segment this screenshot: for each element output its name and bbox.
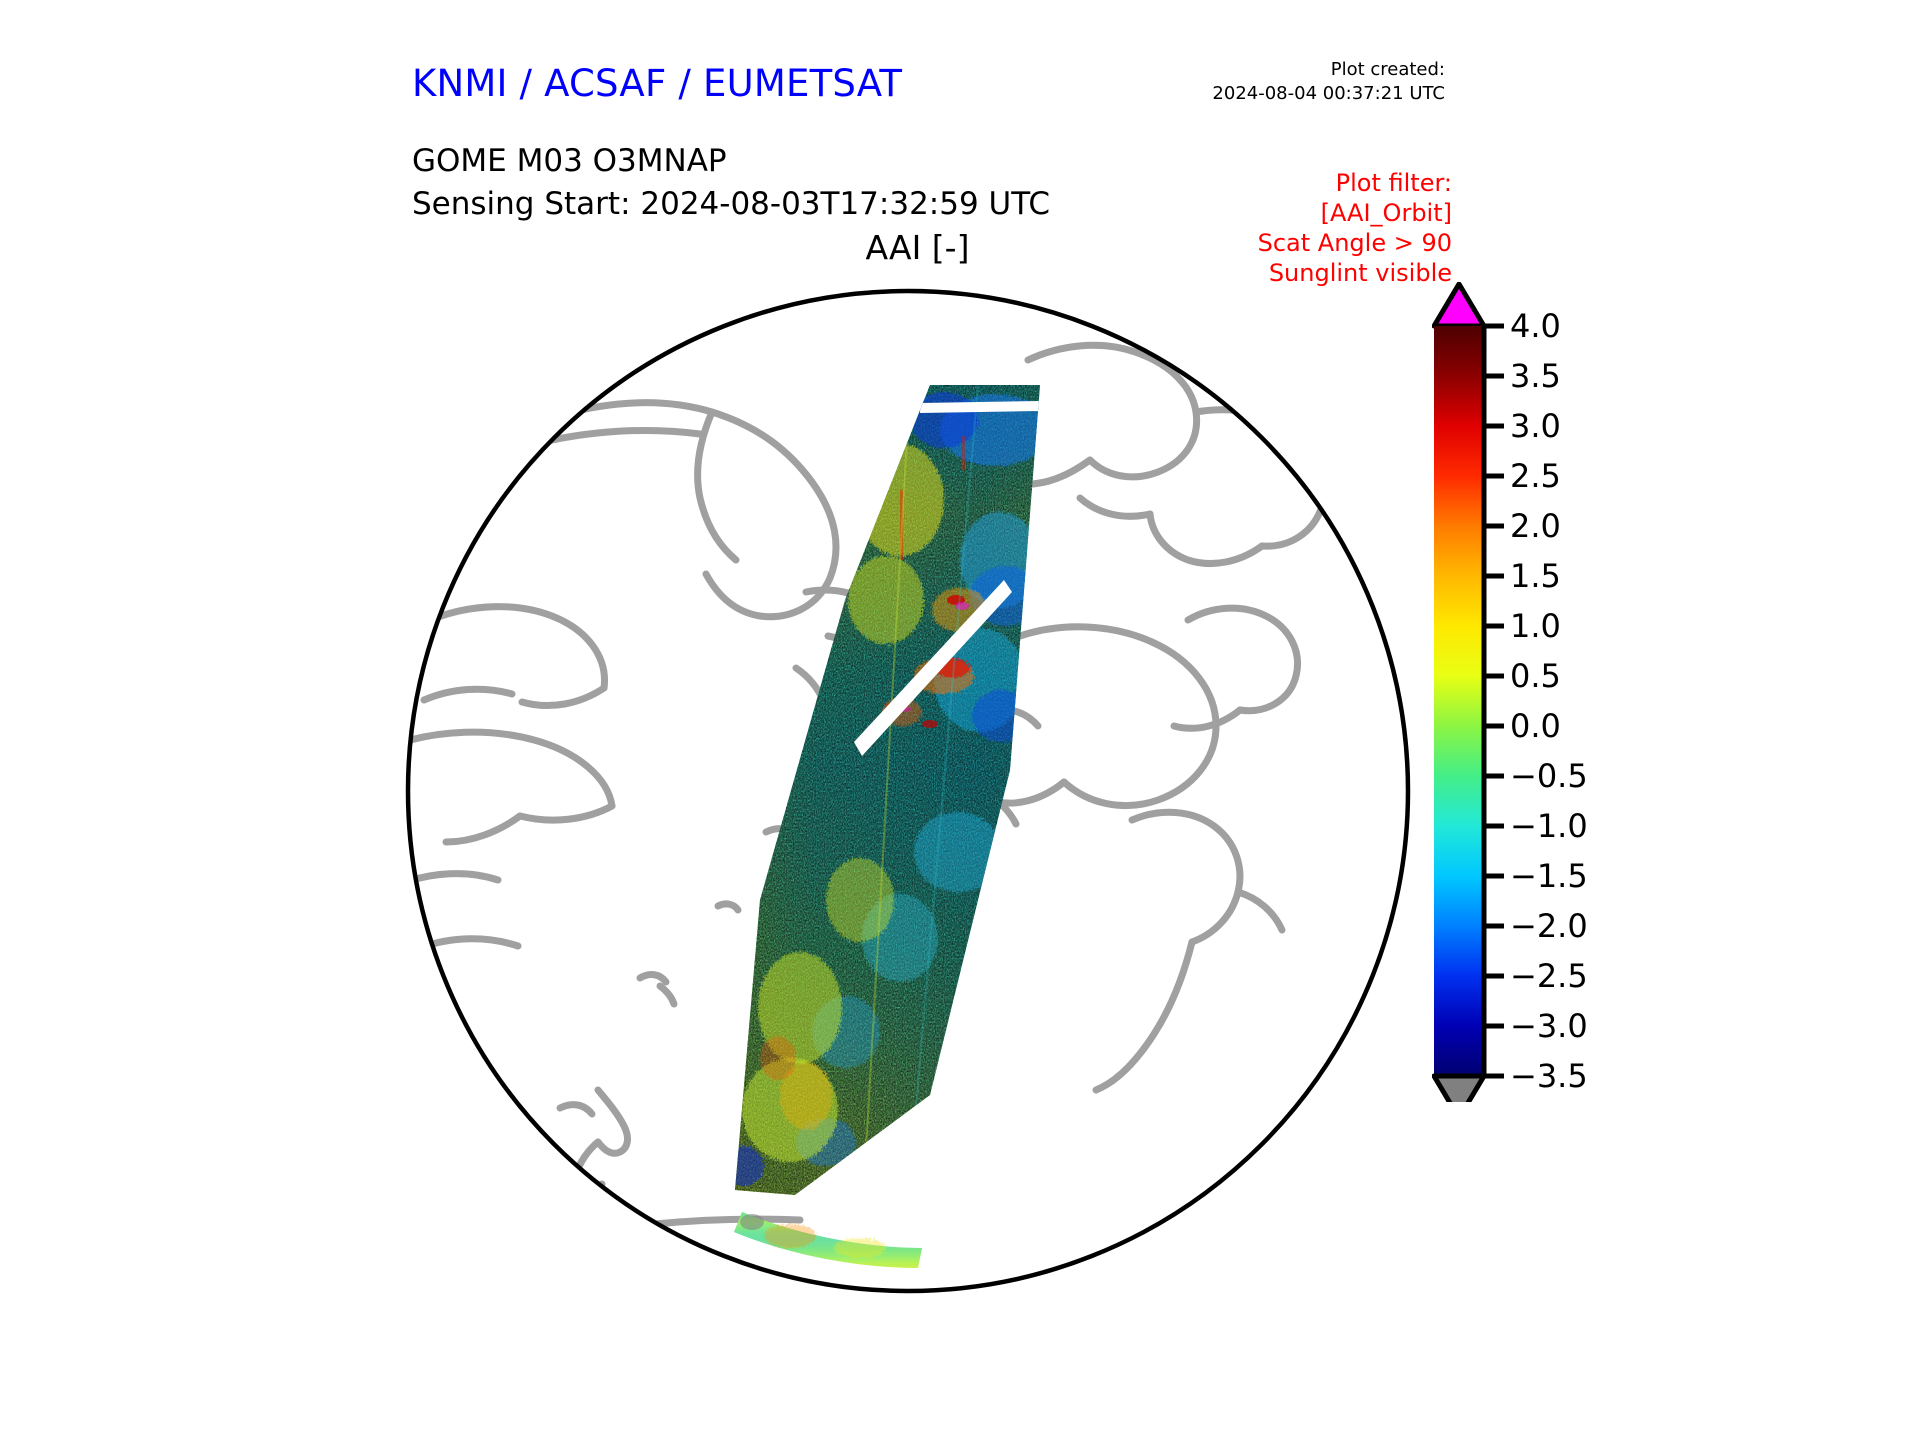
colorbar-tick-label-9: −0.5: [1510, 757, 1588, 795]
colorbar: 4.0 3.5 3.0 2.5 2.0 1.5 1.0 0.5 0.0 −0.5…: [1432, 282, 1732, 1102]
colorbar-tick-label-5: 1.5: [1510, 557, 1561, 595]
colorbar-tick-label-4: 2.0: [1510, 507, 1561, 545]
colorbar-ticks: [1484, 326, 1504, 1076]
colorbar-tick-label-7: 0.5: [1510, 657, 1561, 695]
colorbar-over-arrow: [1434, 284, 1484, 326]
colorbar-tick-label-13: −2.5: [1510, 957, 1588, 995]
colorbar-gradient: [1434, 326, 1484, 1076]
colorbar-tick-label-8: 0.0: [1510, 707, 1561, 745]
colorbar-tick-label-15: −3.5: [1510, 1057, 1588, 1095]
colorbar-tick-label-1: 3.5: [1510, 357, 1561, 395]
colorbar-tick-label-3: 2.5: [1510, 457, 1561, 495]
colorbar-tick-label-0: 4.0: [1510, 307, 1561, 345]
colorbar-tick-label-12: −2.0: [1510, 907, 1588, 945]
colorbar-tick-label-14: −3.0: [1510, 1007, 1588, 1045]
colorbar-tick-label-10: −1.0: [1510, 807, 1588, 845]
colorbar-tick-label-2: 3.0: [1510, 407, 1561, 445]
colorbar-tick-label-6: 1.0: [1510, 607, 1561, 645]
colorbar-tick-label-11: −1.5: [1510, 857, 1588, 895]
colorbar-under-arrow: [1434, 1076, 1484, 1102]
